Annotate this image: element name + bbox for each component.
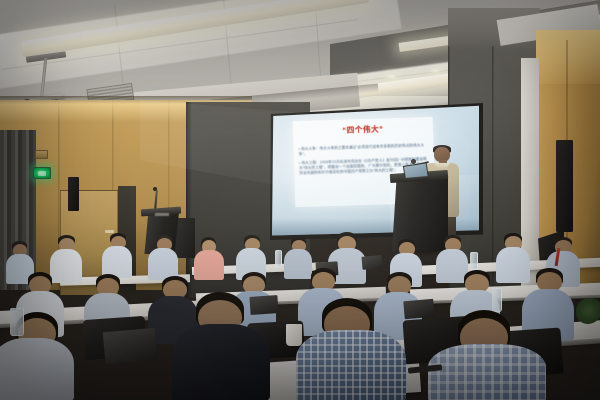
lectern-microphone-icon — [153, 187, 157, 191]
laptop[interactable] — [403, 299, 434, 320]
plaid-shirt — [428, 344, 546, 400]
ceiling-downlight — [386, 74, 397, 79]
wall-speaker-right — [556, 140, 573, 232]
potted-plant — [576, 298, 600, 324]
water-bottle[interactable] — [275, 250, 282, 267]
exit-sign-icon — [33, 167, 51, 179]
paper-cup[interactable] — [286, 324, 302, 346]
plaid-shirt — [296, 330, 406, 400]
laptop[interactable] — [249, 295, 278, 315]
lectern-logo — [155, 213, 169, 216]
laptop[interactable] — [361, 255, 382, 270]
water-bottle[interactable] — [10, 308, 24, 336]
slide-bullet-text: 伟大斗争：伟大斗争的之整本道记“必须进行这有许多新的历史特点的伟大斗争”。 — [299, 143, 425, 156]
wall-plate — [35, 150, 48, 159]
photo-conference-room-lecture: “四个伟大” • 伟大斗争：伟大斗争的之整本道记“必须进行这有许多新的历史特点的… — [0, 0, 600, 400]
ceiling-downlight — [430, 68, 441, 73]
door-handle[interactable] — [105, 230, 114, 233]
wall-speaker-left — [68, 177, 79, 211]
av-cabinet — [175, 218, 195, 258]
slide-title: “四个伟大” — [293, 122, 433, 137]
laptop[interactable] — [103, 328, 158, 364]
cove-light-right — [536, 30, 600, 84]
water-bottle[interactable] — [470, 252, 478, 270]
water-bottle[interactable] — [492, 288, 502, 312]
slide-bullet: • 伟大斗争：伟大斗争的之整本道记“必须进行这有许多新的历史特点的伟大斗争”。 — [298, 143, 428, 157]
